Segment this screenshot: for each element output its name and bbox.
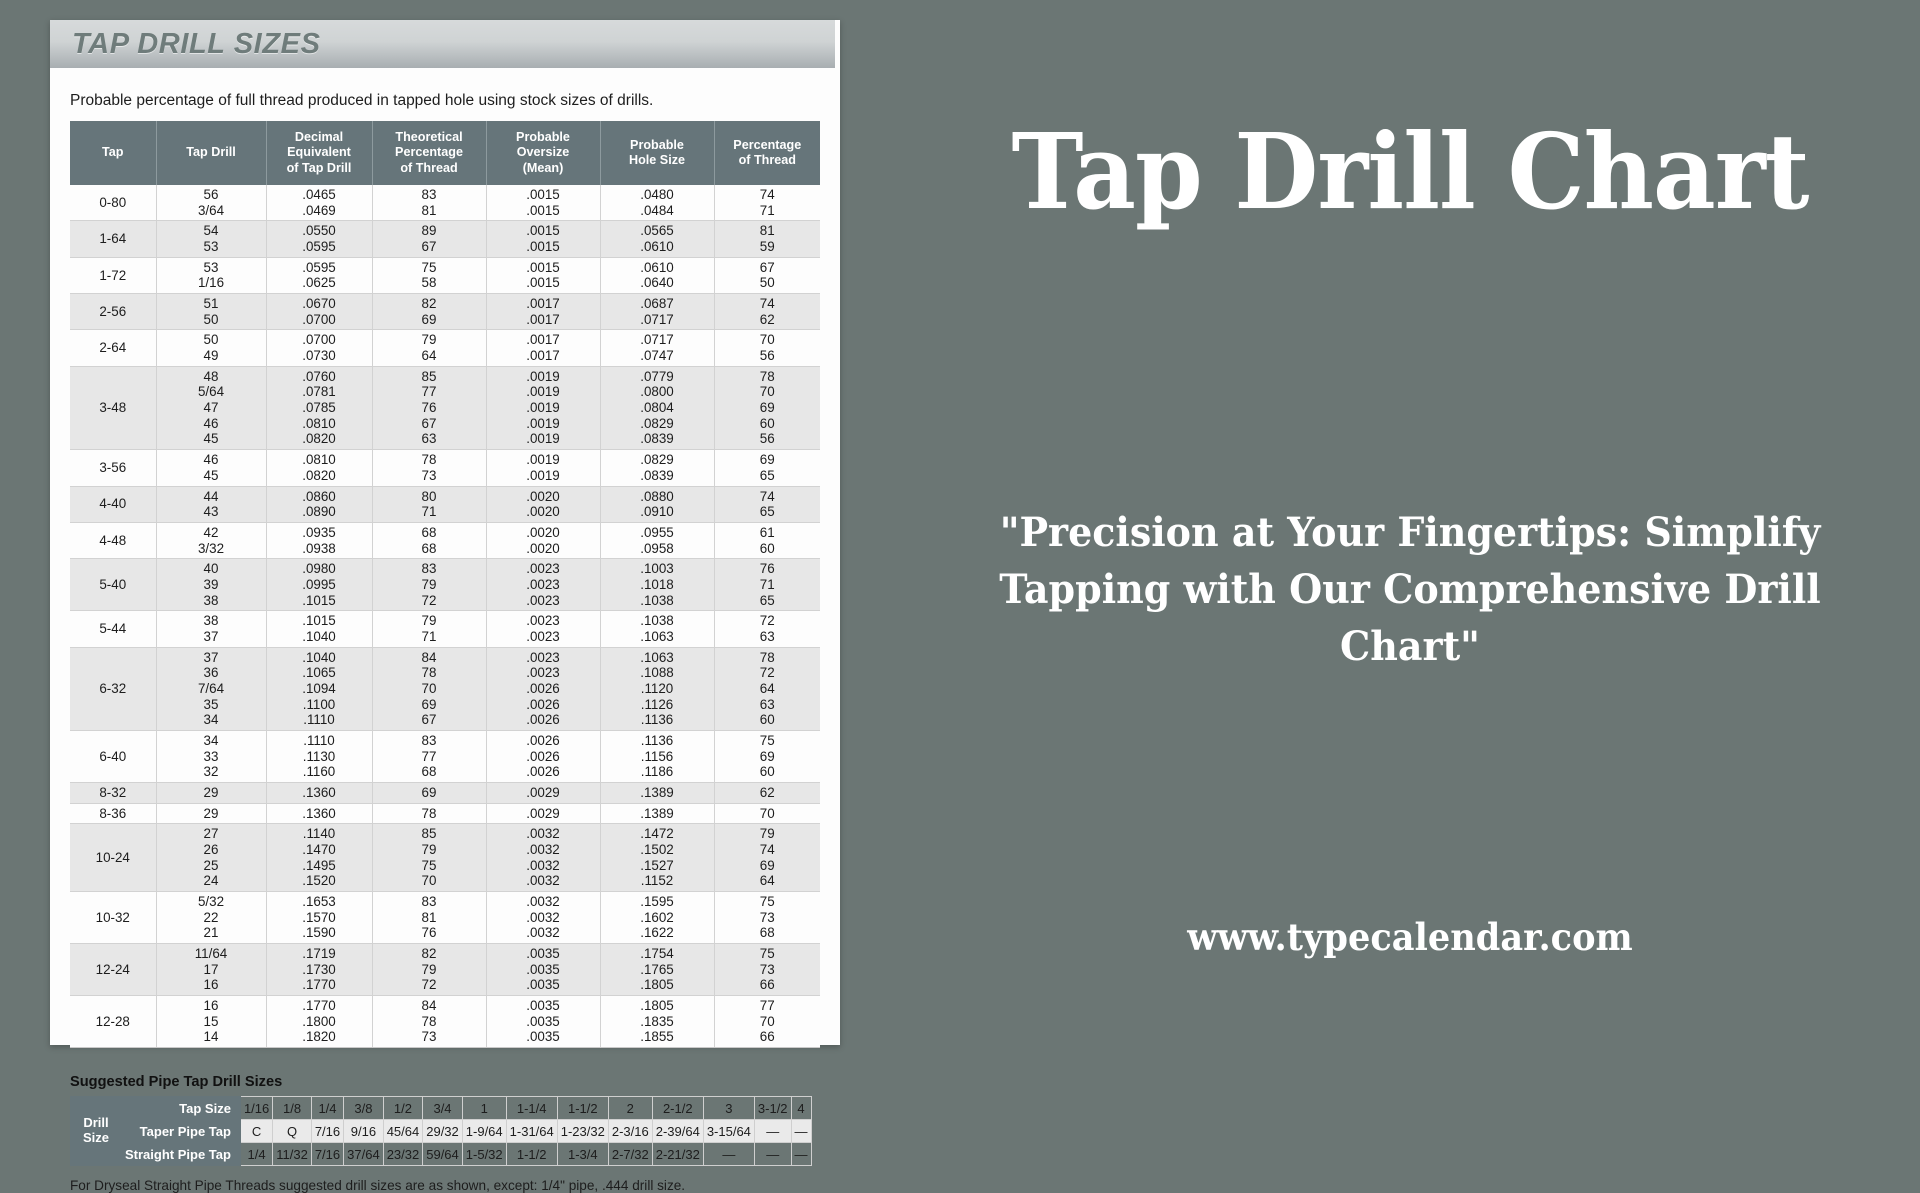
cell-value: .0017	[487, 348, 600, 364]
cell-value: .1770	[267, 998, 372, 1014]
pipe-cell: 1-31/64	[506, 1120, 557, 1143]
cell-value: .1800	[267, 1014, 372, 1030]
cell-decimal: .0810.0820	[266, 450, 372, 486]
table-row: 8-3629.136078.0029.138970	[70, 803, 820, 824]
cell-theoretical: 8269	[372, 294, 486, 330]
cell-value: .0032	[487, 894, 600, 910]
cell-tap: 1-72	[70, 257, 156, 293]
cell-value: 71	[715, 203, 821, 219]
page-title: Tap Drill Chart	[936, 120, 1885, 224]
pipe-row-label: Straight Pipe Tap	[122, 1143, 241, 1166]
pipe-cell: 3/8	[344, 1097, 384, 1120]
cell-theoretical: 837972	[372, 559, 486, 611]
header-line: Decimal	[269, 130, 370, 145]
cell-value: 65	[715, 504, 821, 520]
cell-value: 29	[157, 785, 266, 801]
pipe-row-straight-pipe-tap: Straight Pipe Tap1/411/327/1637/6423/325…	[71, 1143, 812, 1166]
column-header-0: Tap	[70, 121, 156, 185]
cell-value: .0035	[487, 946, 600, 962]
cell-hole: .0955.0958	[600, 522, 714, 558]
cell-value: .0023	[487, 650, 600, 666]
cell-value: .1653	[267, 894, 372, 910]
cell-value: 7/64	[157, 681, 266, 697]
cell-value: 44	[157, 489, 266, 505]
cell-value: 89	[373, 223, 486, 239]
cell-value: .0019	[487, 416, 600, 432]
cell-value: .1015	[267, 593, 372, 609]
cell-value: 64	[715, 873, 821, 889]
cell-value: .1389	[601, 785, 714, 801]
cell-value: .0015	[487, 203, 600, 219]
cell-hole: .1389	[600, 803, 714, 824]
cell-value: .1622	[601, 925, 714, 941]
header-line: Theoretical	[375, 130, 484, 145]
cell-value: 76	[373, 400, 486, 416]
cell-value: 66	[715, 1029, 821, 1045]
cell-value: .1152	[601, 873, 714, 889]
cell-value: 67	[373, 712, 486, 728]
cell-hole: .1063.1088.1120.1126.1136	[600, 647, 714, 730]
cell-value: 78	[373, 1014, 486, 1030]
table-row: 1-72531/16.0595.06257558.0015.0015.0610.…	[70, 257, 820, 293]
cell-value: 71	[373, 504, 486, 520]
pipe-cell: 1-1/4	[506, 1097, 557, 1120]
pipe-cell: 1/16	[240, 1097, 272, 1120]
cell-value: .0026	[487, 749, 600, 765]
cell-value: 83	[373, 733, 486, 749]
cell-value: .1120	[601, 681, 714, 697]
cell-value: 70	[715, 806, 821, 822]
header-line: Percentage	[375, 145, 484, 160]
pipe-table-title: Suggested Pipe Tap Drill Sizes	[70, 1074, 840, 1090]
cell-theoretical: 6868	[372, 522, 486, 558]
cell-value: .0032	[487, 925, 600, 941]
cell-value: 50	[157, 332, 266, 348]
cell-value: .1855	[601, 1029, 714, 1045]
cell-value: 73	[373, 1029, 486, 1045]
cell-value: 63	[715, 629, 821, 645]
cell-value: 68	[373, 541, 486, 557]
intro-text: Probable percentage of full thread produ…	[70, 92, 840, 110]
pipe-tap-drill-table: DrillSizeTap Size1/161/81/43/81/23/411-1…	[70, 1096, 812, 1166]
cell-theoretical: 8381	[372, 185, 486, 221]
cell-decimal: .1719.1730.1770	[266, 943, 372, 995]
cell-oversize: .0019.0019.0019.0019.0019	[486, 366, 600, 449]
pipe-cell: 37/64	[344, 1143, 384, 1166]
cell-value: .0032	[487, 873, 600, 889]
cell-value: .0480	[601, 187, 714, 203]
header-line: Percentage	[717, 138, 819, 153]
table-row: 12-28161514.1770.1800.1820847873.0035.00…	[70, 995, 820, 1047]
pipe-cell: 3-1/2	[754, 1097, 791, 1120]
cell-value: .1730	[267, 962, 372, 978]
cell-value: 81	[373, 203, 486, 219]
cell-value: .0019	[487, 468, 600, 484]
cell-value: .1040	[267, 629, 372, 645]
pipe-cell: 1/2	[383, 1097, 423, 1120]
header-line: (Mean)	[489, 161, 598, 176]
cell-decimal: .0860.0890	[266, 486, 372, 522]
cell-value: 70	[715, 1014, 821, 1030]
cell-value: .0019	[487, 384, 600, 400]
cell-value: .1602	[601, 910, 714, 926]
cell-value: 64	[373, 348, 486, 364]
cell-hole: .0565.0610	[600, 221, 714, 257]
table-row: 10-2427262524.1140.1470.1495.15208579757…	[70, 824, 820, 892]
pipe-table-note: For Dryseal Straight Pipe Threads sugges…	[70, 1178, 840, 1193]
cell-value: .0779	[601, 369, 714, 385]
cell-value: 26	[157, 842, 266, 858]
cell-oversize: .0020.0020	[486, 486, 600, 522]
cell-value: 60	[715, 541, 821, 557]
cell-oversize: .0023.0023.0023	[486, 559, 600, 611]
cell-value: 70	[373, 681, 486, 697]
pipe-cell: 11/32	[273, 1143, 312, 1166]
cell-value: .1805	[601, 998, 714, 1014]
cell-value: 68	[715, 925, 821, 941]
cell-value: .0625	[267, 275, 372, 291]
cell-value: 3/32	[157, 541, 266, 557]
cell-theoretical: 8071	[372, 486, 486, 522]
cell-tap: 6-32	[70, 647, 156, 730]
pipe-row-label: Tap Size	[122, 1097, 241, 1120]
cell-value: 75	[715, 733, 821, 749]
header-line: of Thread	[375, 161, 484, 176]
cell-value: .1595	[601, 894, 714, 910]
cell-hole: .0480.0484	[600, 185, 714, 221]
card-content: Probable percentage of full thread produ…	[50, 75, 840, 1193]
cell-value: 72	[373, 977, 486, 993]
cell-tap: 2-64	[70, 330, 156, 366]
cell-hole: .1595.1602.1622	[600, 891, 714, 943]
header-line: Probable	[489, 130, 598, 145]
cell-tap: 8-36	[70, 803, 156, 824]
cell-hole: .0717.0747	[600, 330, 714, 366]
cell-value: 79	[373, 842, 486, 858]
table-row: 10-325/322221.1653.1570.1590838176.0032.…	[70, 891, 820, 943]
cell-value: 53	[157, 260, 266, 276]
cell-value: 73	[715, 910, 821, 926]
cell-value: .0023	[487, 561, 600, 577]
cell-value: 76	[715, 561, 821, 577]
cell-value: 14	[157, 1029, 266, 1045]
cell-value: 72	[373, 593, 486, 609]
cell-theoretical: 837768	[372, 730, 486, 782]
cell-value: 67	[373, 416, 486, 432]
cell-value: .0810	[267, 452, 372, 468]
cell-oversize: .0035.0035.0035	[486, 995, 600, 1047]
cell-oversize: .0015.0015	[486, 221, 600, 257]
table-row: 12-2411/641716.1719.1730.1770827972.0035…	[70, 943, 820, 995]
cell-value: .1100	[267, 697, 372, 713]
cell-hole: .0779.0800.0804.0829.0839	[600, 366, 714, 449]
cell-value: .0890	[267, 504, 372, 520]
cell-value: 77	[715, 998, 821, 1014]
pipe-cell: 1-1/2	[557, 1097, 608, 1120]
cell-tap: 4-48	[70, 522, 156, 558]
cell-value: 50	[715, 275, 821, 291]
cell-value: .1110	[267, 712, 372, 728]
cell-value: .0020	[487, 525, 600, 541]
cell-value: 71	[715, 577, 821, 593]
cell-value: 3/64	[157, 203, 266, 219]
cell-value: .0017	[487, 332, 600, 348]
cell-oversize: .0017.0017	[486, 294, 600, 330]
cell-oversize: .0023.0023.0026.0026.0026	[486, 647, 600, 730]
cell-value: .0670	[267, 296, 372, 312]
table-row: 8-3229.136069.0029.138962	[70, 782, 820, 803]
cell-value: .0020	[487, 541, 600, 557]
cell-value: .0839	[601, 468, 714, 484]
cell-value: 67	[373, 239, 486, 255]
pipe-row-taper-pipe-tap: Taper Pipe TapCQ7/169/1645/6429/321-9/64…	[71, 1120, 812, 1143]
cell-oversize: .0032.0032.0032.0032	[486, 824, 600, 892]
cell-value: 60	[715, 712, 821, 728]
cell-value: .0035	[487, 1014, 600, 1030]
cell-value: .0019	[487, 369, 600, 385]
pipe-cell: 1/4	[311, 1097, 343, 1120]
cell-value: 25	[157, 858, 266, 874]
cell-tap: 3-56	[70, 450, 156, 486]
pipe-cell: —	[754, 1143, 791, 1166]
table-row: 4-404443.0860.08908071.0020.0020.0880.09…	[70, 486, 820, 522]
tagline-quote: "Precision at Your Fingertips: Simplify …	[992, 505, 1828, 675]
cell-decimal: .1040.1065.1094.1100.1110	[266, 647, 372, 730]
header-line: Probable	[603, 138, 712, 153]
cell-theoretical: 7558	[372, 257, 486, 293]
cell-drill: 29	[156, 782, 266, 803]
cell-value: .0026	[487, 733, 600, 749]
cell-value: 70	[715, 384, 821, 400]
table-row: 6-3237367/643534.1040.1065.1094.1100.111…	[70, 647, 820, 730]
header-line: Oversize	[489, 145, 598, 160]
cell-drill: 27262524	[156, 824, 266, 892]
cell-percentage: 7462	[714, 294, 820, 330]
cell-value: 63	[373, 431, 486, 447]
cell-value: 27	[157, 826, 266, 842]
cell-value: .1770	[267, 977, 372, 993]
cell-value: .1360	[267, 806, 372, 822]
cell-value: 40	[157, 561, 266, 577]
cell-value: 63	[715, 697, 821, 713]
cell-hole: .0829.0839	[600, 450, 714, 486]
cell-value: .0032	[487, 858, 600, 874]
cell-value: .1088	[601, 665, 714, 681]
pipe-cell: 7/16	[311, 1120, 343, 1143]
cell-value: 75	[715, 894, 821, 910]
cell-value: .1520	[267, 873, 372, 889]
pipe-cell: 1-3/4	[557, 1143, 608, 1166]
pipe-cell: 1-1/2	[506, 1143, 557, 1166]
column-header-2: DecimalEquivalentof Tap Drill	[266, 121, 372, 185]
cell-value: 69	[715, 749, 821, 765]
cell-value: 78	[373, 452, 486, 468]
cell-tap: 3-48	[70, 366, 156, 449]
pipe-cell: C	[240, 1120, 272, 1143]
table-row: 6-40343332.1110.1130.1160837768.0026.002…	[70, 730, 820, 782]
cell-value: 74	[715, 296, 821, 312]
cell-value: .0781	[267, 384, 372, 400]
cell-value: .0955	[601, 525, 714, 541]
pipe-cell: 45/64	[383, 1120, 423, 1143]
corner-line: Size	[74, 1131, 118, 1146]
cell-value: .0820	[267, 468, 372, 484]
cell-value: .1719	[267, 946, 372, 962]
cell-decimal: .1770.1800.1820	[266, 995, 372, 1047]
cell-decimal: .1360	[266, 782, 372, 803]
cell-drill: 485/64474645	[156, 366, 266, 449]
cell-value: .1820	[267, 1029, 372, 1045]
tap-drill-table: TapTap DrillDecimalEquivalentof Tap Dril…	[70, 121, 820, 1048]
cell-value: .0747	[601, 348, 714, 364]
cell-value: 45	[157, 431, 266, 447]
cell-decimal: .1653.1570.1590	[266, 891, 372, 943]
cell-value: .0484	[601, 203, 714, 219]
cell-drill: 5/322221	[156, 891, 266, 943]
cell-decimal: .0465.0469	[266, 185, 372, 221]
cell-decimal: .0595.0625	[266, 257, 372, 293]
cell-value: .0465	[267, 187, 372, 203]
cell-value: 38	[157, 593, 266, 609]
cell-tap: 10-32	[70, 891, 156, 943]
pipe-cell: 2-39/64	[652, 1120, 703, 1143]
column-header-4: ProbableOversize(Mean)	[486, 121, 600, 185]
cell-drill: 4443	[156, 486, 266, 522]
pipe-cell: 2-21/32	[652, 1143, 703, 1166]
cell-value: 75	[373, 260, 486, 276]
cell-tap: 10-24	[70, 824, 156, 892]
cell-value: .0019	[487, 452, 600, 468]
cell-value: .1570	[267, 910, 372, 926]
card-banner: TAP DRILL SIZES	[50, 20, 835, 68]
cell-theoretical: 8967	[372, 221, 486, 257]
cell-value: .1186	[601, 764, 714, 780]
cell-value: 75	[373, 858, 486, 874]
pipe-cell: 7/16	[311, 1143, 343, 1166]
pipe-cell: Q	[273, 1120, 312, 1143]
cell-tap: 12-24	[70, 943, 156, 995]
cell-hole: .1754.1765.1805	[600, 943, 714, 995]
pipe-cell: 29/32	[423, 1120, 463, 1143]
cell-value: .1502	[601, 842, 714, 858]
cell-value: .0019	[487, 400, 600, 416]
cell-value: .1160	[267, 764, 372, 780]
cell-value: .1110	[267, 733, 372, 749]
cell-theoretical: 827972	[372, 943, 486, 995]
cell-value: 60	[715, 764, 821, 780]
cell-decimal: .0670.0700	[266, 294, 372, 330]
cell-value: 73	[373, 468, 486, 484]
cell-drill: 343332	[156, 730, 266, 782]
cell-percentage: 8159	[714, 221, 820, 257]
cell-value: 77	[373, 384, 486, 400]
page-root: TAP DRILL SIZES Probable percentage of f…	[0, 0, 1920, 1080]
cell-value: .0469	[267, 203, 372, 219]
cell-value: .0019	[487, 431, 600, 447]
cell-value: 76	[373, 925, 486, 941]
cell-value: 83	[373, 561, 486, 577]
cell-value: 64	[715, 681, 821, 697]
cell-percentage: 7471	[714, 185, 820, 221]
cell-percentage: 757368	[714, 891, 820, 943]
pipe-cell: 1	[462, 1097, 506, 1120]
cell-value: 49	[157, 348, 266, 364]
cell-drill: 37367/643534	[156, 647, 266, 730]
pipe-cell: 1-9/64	[462, 1120, 506, 1143]
website-url: www.typecalendar.com	[926, 915, 1895, 959]
cell-percentage: 79746964	[714, 824, 820, 892]
cell-value: .1835	[601, 1014, 714, 1030]
cell-value: 69	[715, 452, 821, 468]
cell-percentage: 7056	[714, 330, 820, 366]
cell-value: 48	[157, 369, 266, 385]
cell-value: 69	[373, 312, 486, 328]
cell-oversize: .0029	[486, 803, 600, 824]
cell-value: 56	[157, 187, 266, 203]
cell-tap: 4-40	[70, 486, 156, 522]
cell-value: 24	[157, 873, 266, 889]
cell-drill: 531/16	[156, 257, 266, 293]
table-row: 1-645453.0550.05958967.0015.0015.0565.06…	[70, 221, 820, 257]
cell-value: .0023	[487, 629, 600, 645]
cell-value: .1040	[267, 650, 372, 666]
table-row: 2-565150.0670.07008269.0017.0017.0687.07…	[70, 294, 820, 330]
cell-decimal: .0550.0595	[266, 221, 372, 257]
cell-value: .0029	[487, 785, 600, 801]
cell-percentage: 7465	[714, 486, 820, 522]
cell-value: .0640	[601, 275, 714, 291]
pipe-cell: 3-15/64	[703, 1120, 754, 1143]
cell-value: 62	[715, 312, 821, 328]
cell-value: 50	[157, 312, 266, 328]
tap-drill-table-head: TapTap DrillDecimalEquivalentof Tap Dril…	[70, 121, 820, 185]
cell-value: 5/32	[157, 894, 266, 910]
cell-oversize: .0019.0019	[486, 450, 600, 486]
cell-value: 46	[157, 452, 266, 468]
cell-value: .0020	[487, 504, 600, 520]
cell-theoretical: 838176	[372, 891, 486, 943]
cell-value: 81	[373, 910, 486, 926]
header-line: Equivalent	[269, 145, 370, 160]
table-row: 0-80563/64.0465.04698381.0015.0015.0480.…	[70, 185, 820, 221]
cell-value: 29	[157, 806, 266, 822]
cell-value: 32	[157, 764, 266, 780]
cell-decimal: .0700.0730	[266, 330, 372, 366]
cell-theoretical: 7964	[372, 330, 486, 366]
cell-value: 69	[715, 400, 821, 416]
cell-value: 46	[157, 416, 266, 432]
cell-theoretical: 7873	[372, 450, 486, 486]
cell-value: .0026	[487, 681, 600, 697]
cell-value: .0026	[487, 712, 600, 728]
cell-value: .0610	[601, 239, 714, 255]
cell-value: 61	[715, 525, 821, 541]
cell-value: 39	[157, 577, 266, 593]
cell-value: .0015	[487, 223, 600, 239]
cell-value: .1003	[601, 561, 714, 577]
cell-value: 35	[157, 697, 266, 713]
cell-drill: 11/641716	[156, 943, 266, 995]
cell-value: 85	[373, 826, 486, 842]
cell-value: .0595	[267, 260, 372, 276]
table-row: 3-564645.0810.08207873.0019.0019.0829.08…	[70, 450, 820, 486]
cell-value: 79	[715, 826, 821, 842]
cell-drill: 5453	[156, 221, 266, 257]
cell-value: .0032	[487, 826, 600, 842]
cell-value: 67	[715, 260, 821, 276]
cell-value: 58	[373, 275, 486, 291]
cell-value: 65	[715, 468, 821, 484]
